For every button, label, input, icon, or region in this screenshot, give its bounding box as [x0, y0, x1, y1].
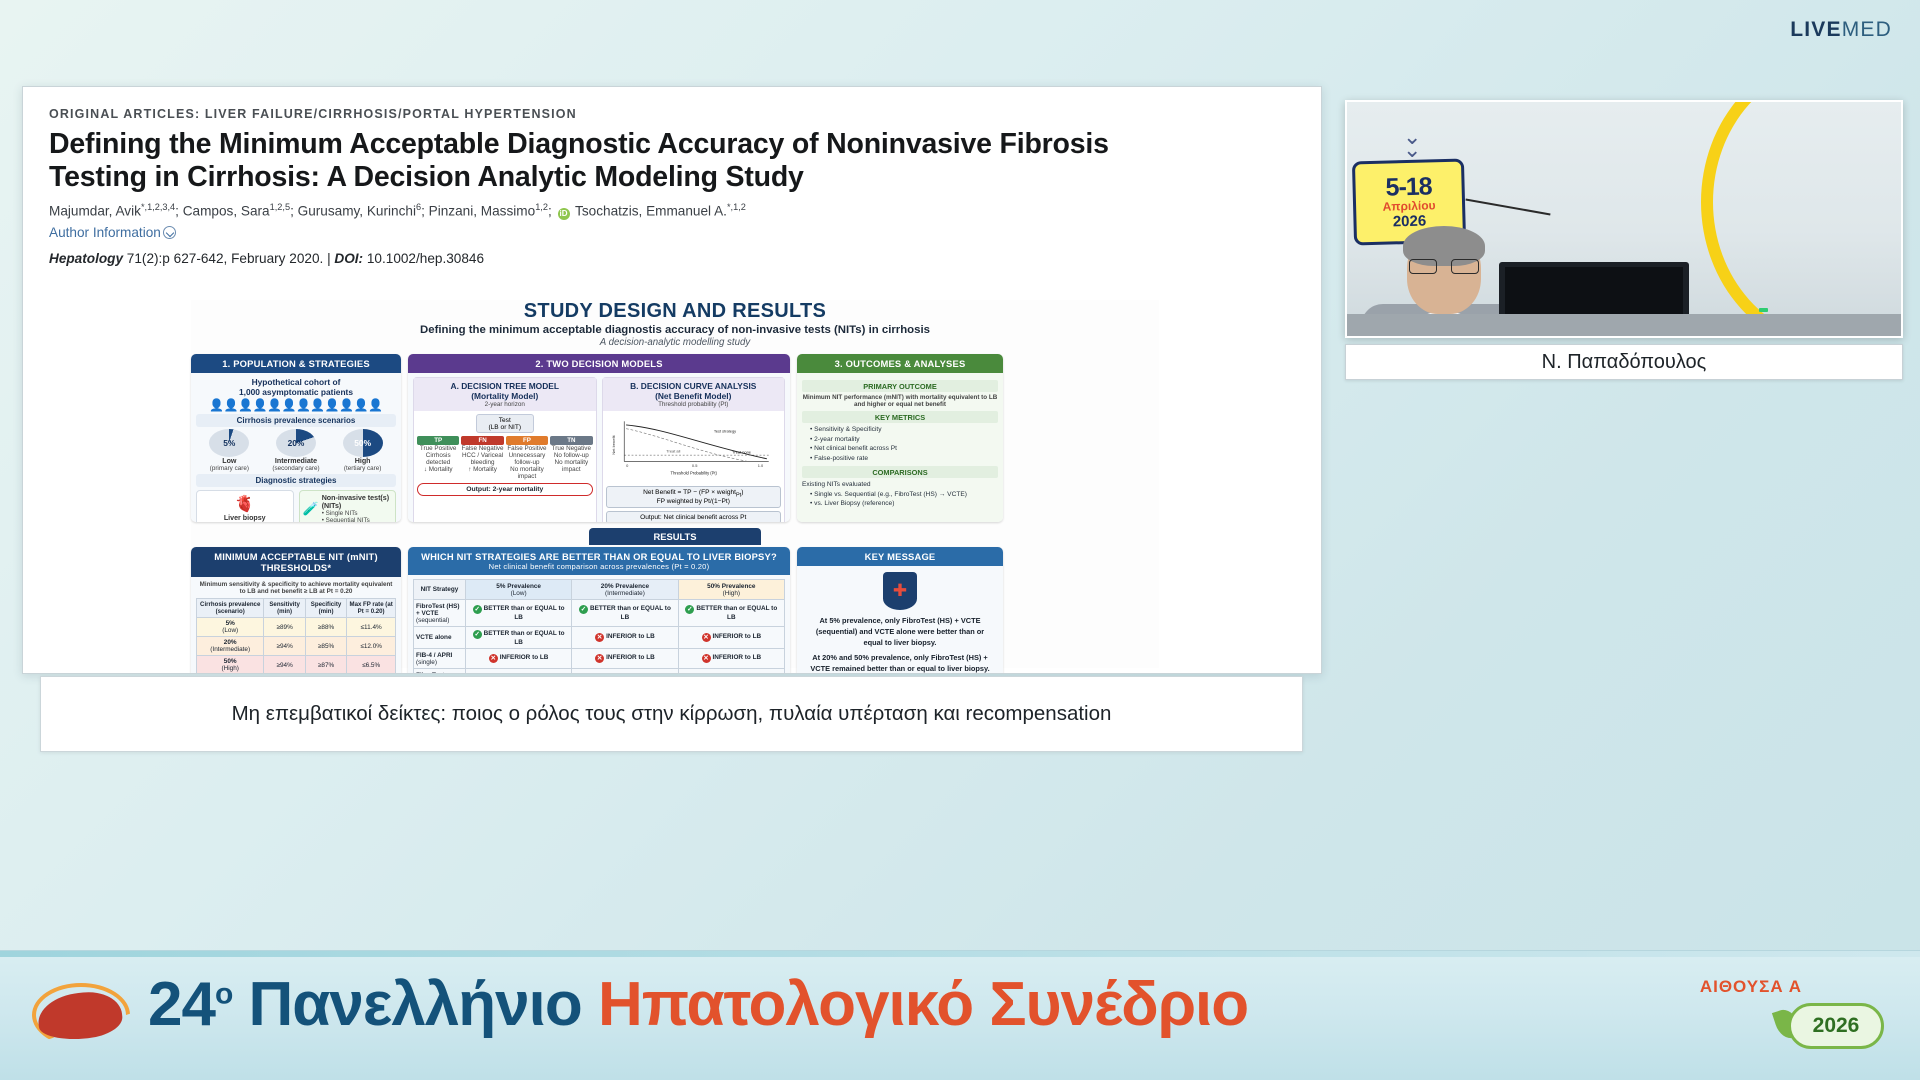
thresholds-table: Cirrhosis prevalence (scenario) Sensitiv…	[196, 598, 396, 674]
strategy-nit-bullet-2: • Sequential NITs	[322, 517, 389, 522]
cohort-line-1: Hypothetical cohort of	[196, 377, 396, 387]
event-ordinal: 24	[148, 970, 215, 1039]
panel-outcomes-analyses: 3. OUTCOMES & ANALYSES PRIMARY OUTCOME M…	[797, 354, 1003, 522]
check-icon: ✓	[473, 630, 482, 639]
cell-sensitivity: ≥89%	[264, 618, 305, 637]
session-caption: Μη επεμβατικοί δείκτες: ποιος ο ρόλος το…	[40, 676, 1303, 752]
prevalence-name: Low	[198, 457, 260, 465]
doi-value: 10.1002/hep.30846	[367, 251, 484, 266]
table-header-row: NIT Strategy 5% Prevalence (Low) 20% Pre…	[414, 580, 785, 600]
strategy-nit-line-2: (NITs)	[322, 502, 389, 510]
svg-text:Test strategy: Test strategy	[713, 428, 735, 433]
key-message-paragraph-2: At 20% and 50% prevalence, only FibroTes…	[802, 650, 998, 674]
col-specificity: Specificity (min)	[305, 599, 346, 618]
cell-verdict: ✕INFERIOR to LB	[465, 669, 571, 675]
col-nit-strategy: NIT Strategy	[414, 580, 466, 600]
cell-verdict: ✓BETTER than or EQUAL to LB	[678, 600, 784, 627]
hall-label: ΑΙΘΟΥΣΑ Α	[1700, 977, 1802, 997]
infographic-row-bottom: MINIMUM ACCEPTABLE NIT (mNIT) THRESHOLDS…	[191, 547, 1159, 674]
model-b-formula: Net Benefit = TP − (FP × weightPt) FP we…	[606, 486, 782, 508]
event-ordinal-mark: o	[215, 977, 232, 1010]
tree-outcome-tp: TP True Positive Cirrhosis detected ↓ Mo…	[417, 436, 459, 480]
cell-sensitivity: ≥94%	[264, 637, 305, 656]
cell-strategy: FIB-4 / APRI (single)	[414, 649, 466, 669]
liver-icon: 🫀	[200, 494, 290, 514]
table-header-row: Cirrhosis prevalence (scenario) Sensitiv…	[197, 599, 396, 618]
thresholds-header: MINIMUM ACCEPTABLE NIT (mNIT) THRESHOLDS…	[191, 547, 401, 577]
shield-icon	[883, 572, 917, 610]
pie-chart-5: 5%	[209, 429, 249, 457]
cross-icon: ✕	[702, 654, 711, 663]
panel-decision-models: 2. TWO DECISION MODELS A. DECISION TREE …	[408, 354, 790, 522]
metric-item: • False-positive rate	[810, 454, 998, 464]
model-b-header: B. DECISION CURVE ANALYSIS (Net Benefit …	[603, 378, 785, 411]
pie-label: 20%	[276, 429, 316, 457]
cell-verdict: ✓BETTER than or EQUAL to LB	[465, 600, 571, 627]
check-icon: ✓	[579, 605, 588, 614]
citation-separator: |	[327, 251, 331, 266]
infographic-title: STUDY DESIGN AND RESULTS	[191, 300, 1159, 323]
pie-label: 50%	[343, 429, 383, 457]
cell-sensitivity: ≥94%	[264, 656, 305, 675]
article-kicker: ORIGINAL ARTICLES: LIVER FAILURE/CIRRHOS…	[49, 107, 1295, 121]
cell-verdict: ✕INFERIOR to LB	[465, 649, 571, 669]
panel1-header: 1. POPULATION & STRATEGIES	[191, 354, 401, 373]
badge-dates: 5-18	[1385, 175, 1432, 201]
cross-icon: ✕	[595, 654, 604, 663]
primary-outcome-header: PRIMARY OUTCOME	[802, 380, 998, 392]
event-banner: 24o Πανελλήνιο Ηπατολογικό Συνέδριο ΑΙΘΟ…	[0, 950, 1920, 1080]
table-row: FibroTest (HS) + VCTE (sequential) ✓BETT…	[414, 600, 785, 627]
glasses-icon	[1409, 259, 1479, 274]
comparison-header: WHICH NIT STRATEGIES ARE BETTER THAN OR …	[408, 547, 790, 575]
metric-item: • Net clinical benefit across Pt	[810, 444, 998, 454]
year-badge: 2026	[1788, 1003, 1884, 1049]
tree-root-node: Test (LB or NIT)	[476, 414, 534, 433]
model-a-body: Test (LB or NIT) TP True Positive Cirrho…	[414, 411, 596, 522]
cell-verdict: ✕INFERIOR to LB	[572, 669, 678, 675]
table-row: 5% (Low) ≥89% ≥88% ≤11.4%	[197, 618, 396, 637]
prevalence-setting: (tertiary care)	[332, 465, 394, 472]
strategy-boxes: 🫀 Liver biopsy (LB) 🧪 Non-invasive test(…	[196, 490, 396, 522]
prevalence-pies: 5% Low (primary care) 20% Intermediate	[196, 429, 396, 472]
table-row: VCTE alone ✓BETTER than or EQUAL to LB ✕…	[414, 627, 785, 649]
strategy-nits: 🧪 Non-invasive test(s) (NITs) • Single N…	[299, 490, 397, 522]
panel2-header: 2. TWO DECISION MODELS	[408, 354, 790, 373]
check-icon: ✓	[473, 605, 482, 614]
speaker-name: Ν. Παπαδόπουλος	[1542, 351, 1707, 374]
strategy-nit-line-1: Non-invasive test(s)	[322, 494, 389, 502]
key-metrics-header: KEY METRICS	[802, 411, 998, 423]
cell-verdict: ✕INFERIOR to LB	[572, 627, 678, 649]
pie-label: 5%	[209, 429, 249, 457]
event-title: 24o Πανελλήνιο Ηπατολογικό Συνέδριο	[148, 969, 1248, 1040]
metric-item: • Sensitivity & Specificity	[810, 425, 998, 435]
prevalence-setting: (primary care)	[198, 465, 260, 472]
comparisons-list: Existing NITs evaluated • Single vs. Seq…	[802, 480, 998, 509]
model-b-body: Net benefit Test strategy Treat all	[603, 411, 785, 522]
results-band: RESULTS	[589, 528, 761, 545]
strategy-nit-bullet-1: • Single NITs	[322, 510, 389, 517]
key-metrics-list: • Sensitivity & Specificity • 2-year mor…	[802, 425, 998, 463]
event-title-blue: Πανελλήνιο	[249, 970, 582, 1039]
cell-maxfp: ≤6.5%	[347, 656, 396, 675]
prevalence-name: High	[332, 457, 394, 465]
key-message-paragraph-1: At 5% prevalence, only FibroTest (HS) + …	[802, 613, 998, 650]
table-row: 20% (Intermediate) ≥94% ≥85% ≤12.0%	[197, 637, 396, 656]
col-scenario: Cirrhosis prevalence (scenario)	[197, 599, 264, 618]
cross-icon: ✕	[702, 633, 711, 642]
people-icons: 👤👤👤👤👤👤👤👤👤👤👤👤	[196, 399, 396, 411]
liver-logo-icon	[34, 981, 132, 1049]
infographic-subtitle-2: A decision-analytic modelling study	[191, 337, 1159, 348]
infographic-row-top: 1. POPULATION & STRATEGIES Hypothetical …	[191, 354, 1159, 522]
model-b-output: Output: Net clinical benefit across Pt	[606, 511, 782, 522]
article-authors: Majumdar, Avik*,1,2,3,4; Campos, Sara1,2…	[49, 201, 1295, 221]
author-information-label: Author Information	[49, 225, 161, 240]
model-a-output: Output: 2-year mortality	[417, 483, 593, 496]
slide-content: ORIGINAL ARTICLES: LIVER FAILURE/CIRRHOS…	[23, 87, 1321, 673]
cell-maxfp: ≤11.4%	[347, 618, 396, 637]
comparisons-intro: Existing NITs evaluated	[802, 480, 998, 490]
cell-strategy: FibroTest (HS) + VCTE (sequential)	[414, 600, 466, 627]
panel-key-message: KEY MESSAGE At 5% prevalence, only Fibro…	[797, 547, 1003, 674]
citation-detail: 71(2):p 627-642, February 2020.	[127, 251, 323, 266]
status-led-icon	[1759, 308, 1768, 312]
svg-text:Net benefit: Net benefit	[611, 434, 616, 454]
cell-verdict: ✕INFERIOR to LB	[572, 649, 678, 669]
comparison-item: • Single vs. Sequential (e.g., FibroTest…	[810, 490, 998, 500]
citation-journal: Hepatology	[49, 251, 123, 266]
cell-strategy: FibroTest alone (any cut-off)	[414, 669, 466, 675]
svg-text:Treat none: Treat none	[732, 449, 751, 454]
cell-specificity: ≥85%	[305, 637, 346, 656]
check-icon: ✓	[685, 605, 694, 614]
comparison-item: • vs. Liver Biopsy (reference)	[810, 499, 998, 509]
cell-verdict: ✕INFERIOR to LB	[678, 627, 784, 649]
svg-text:Treat all: Treat all	[666, 448, 680, 453]
comparisons-header: COMPARISONS	[802, 466, 998, 478]
col-prev-5: 5% Prevalence (Low)	[465, 580, 571, 600]
cell-verdict: ✕INFERIOR to LB	[678, 669, 784, 675]
thresholds-body: Minimum sensitivity & specificity to ach…	[191, 577, 401, 674]
model-b-threshold: Threshold probability (Pt)	[605, 401, 783, 408]
prevalence-band: Cirrhosis prevalence scenarios	[196, 414, 396, 427]
prevalence-item: 5% Low (primary care)	[198, 429, 260, 472]
doi-label: DOI:	[334, 251, 363, 266]
model-a-header: A. DECISION TREE MODEL (Mortality Model)…	[414, 378, 596, 411]
model-a-subtitle: (Mortality Model)	[416, 391, 594, 401]
table-row: FIB-4 / APRI (single) ✕INFERIOR to LB ✕I…	[414, 649, 785, 669]
col-maxfp: Max FP rate (at Pt = 0.20)	[347, 599, 396, 618]
decision-tree: Test (LB or NIT) TP True Positive Cirrho…	[417, 414, 593, 496]
table-row: FibroTest alone (any cut-off) ✕INFERIOR …	[414, 669, 785, 675]
infographic-subtitle: Defining the minimum acceptable diagnost…	[191, 324, 1159, 336]
slide-viewer[interactable]: ORIGINAL ARTICLES: LIVER FAILURE/CIRRHOS…	[22, 86, 1322, 674]
comparison-body: NIT Strategy 5% Prevalence (Low) 20% Pre…	[408, 575, 790, 674]
desk	[1347, 314, 1901, 336]
speaker-name-plate: Ν. Παπαδόπουλος	[1345, 344, 1903, 380]
test-tube-icon: 🧪	[303, 501, 319, 517]
tree-outcome-tn: TN True Negative No follow-up No mortali…	[550, 436, 592, 480]
table-row: 50% (High) ≥94% ≥87% ≤6.5%	[197, 656, 396, 675]
pie-chart-50: 50%	[343, 429, 383, 457]
key-message-header: KEY MESSAGE	[797, 547, 1003, 566]
cell-specificity: ≥88%	[305, 618, 346, 637]
caption-text: Μη επεμβατικοί δείκτες: ποιος ο ρόλος το…	[232, 700, 1112, 728]
author-information-toggle[interactable]: Author Information	[49, 225, 176, 240]
prevalence-name: Intermediate	[265, 457, 327, 465]
thresholds-intro: Minimum sensitivity & specificity to ach…	[196, 581, 396, 595]
model-b-decision-curve: B. DECISION CURVE ANALYSIS (Net Benefit …	[602, 377, 786, 522]
tree-outcome-fp: FP False Positive Unnecessary follow-up …	[506, 436, 548, 480]
cell-scenario: 20% (Intermediate)	[197, 637, 264, 656]
panel3-header: 3. OUTCOMES & ANALYSES	[797, 354, 1003, 373]
strategy-liver-biopsy: 🫀 Liver biopsy (LB)	[196, 490, 294, 522]
event-title-red: Ηπατολογικό Συνέδριο	[598, 970, 1248, 1039]
chevrons-down-icon: ⌄⌄	[1403, 130, 1421, 156]
model-b-subtitle: (Net Benefit Model)	[605, 391, 783, 401]
col-sensitivity: Sensitivity (min)	[264, 599, 305, 618]
speaker-video[interactable]: ⌄⌄ 5-18 Απριλίου 2026	[1345, 100, 1903, 338]
cell-verdict: ✓BETTER than or EQUAL to LB	[465, 627, 571, 649]
article-citation: Hepatology 71(2):p 627-642, February 202…	[49, 251, 1295, 266]
metric-item: • 2-year mortality	[810, 435, 998, 445]
panel-population-strategies: 1. POPULATION & STRATEGIES Hypothetical …	[191, 354, 401, 522]
model-a-horizon: 2-year horizon	[416, 401, 594, 408]
cell-scenario: 50% (High)	[197, 656, 264, 675]
panel1-body: Hypothetical cohort of 1,000 asymptomati…	[191, 373, 401, 522]
prevalence-item: 20% Intermediate (secondary care)	[265, 429, 327, 472]
logo-light: MED	[1842, 18, 1892, 41]
panel-mnit-thresholds: MINIMUM ACCEPTABLE NIT (mNIT) THRESHOLDS…	[191, 547, 401, 674]
livemed-logo: LIVEMED	[1790, 18, 1892, 42]
key-message-body: At 5% prevalence, only FibroTest (HS) + …	[797, 566, 1003, 674]
prevalence-setting: (secondary care)	[265, 465, 327, 472]
model-a-decision-tree: A. DECISION TREE MODEL (Mortality Model)…	[413, 377, 597, 522]
tree-outcome-chips: TP True Positive Cirrhosis detected ↓ Mo…	[417, 436, 593, 480]
svg-text:0: 0	[626, 463, 629, 468]
svg-text:0.5: 0.5	[691, 463, 697, 468]
cross-icon: ✕	[489, 654, 498, 663]
chevron-down-icon	[163, 226, 176, 239]
col-prev-50: 50% Prevalence (High)	[678, 580, 784, 600]
panel3-body: PRIMARY OUTCOME Minimum NIT performance …	[797, 373, 1003, 522]
svg-text:1.0: 1.0	[757, 463, 763, 468]
cohort-line-2: 1,000 asymptomatic patients	[196, 387, 396, 397]
badge-year: 2026	[1393, 213, 1427, 229]
pie-chart-20: 20%	[276, 429, 316, 457]
strategies-band: Diagnostic strategies	[196, 474, 396, 487]
top-bar: LIVEMED	[0, 0, 1920, 66]
svg-text:Threshold Probability (Pt): Threshold Probability (Pt)	[670, 470, 717, 475]
primary-outcome-text: Minimum NIT performance (mNIT) with mort…	[802, 394, 998, 408]
cell-verdict: ✓BETTER than or EQUAL to LB	[572, 600, 678, 627]
decision-curve-chart: Net benefit Test strategy Treat all	[606, 414, 782, 478]
decision-models-row: A. DECISION TREE MODEL (Mortality Model)…	[413, 377, 785, 522]
model-a-title: A. DECISION TREE MODEL	[416, 381, 594, 391]
panel-nit-comparison: WHICH NIT STRATEGIES ARE BETTER THAN OR …	[408, 547, 790, 674]
cell-maxfp: ≤12.0%	[347, 637, 396, 656]
comparison-table: NIT Strategy 5% Prevalence (Low) 20% Pre…	[413, 579, 785, 674]
article-title: Defining the Minimum Acceptable Diagnost…	[49, 128, 1109, 195]
model-b-title: B. DECISION CURVE ANALYSIS	[605, 381, 783, 391]
logo-bold: LIVE	[1790, 18, 1841, 41]
cross-icon: ✕	[595, 633, 604, 642]
cell-verdict: ✕INFERIOR to LB	[678, 649, 784, 669]
tree-outcome-fn: FN False Negative HCC / Variceal bleedin…	[461, 436, 503, 480]
infographic: STUDY DESIGN AND RESULTS Defining the mi…	[191, 300, 1159, 668]
prevalence-item: 50% High (tertiary care)	[332, 429, 394, 472]
cell-strategy: VCTE alone	[414, 627, 466, 649]
strategy-lb-line-1: Liver biopsy	[200, 514, 290, 522]
cell-scenario: 5% (Low)	[197, 618, 264, 637]
year-badge-text: 2026	[1813, 1014, 1860, 1038]
banner-strip	[0, 951, 1920, 957]
col-prev-20: 20% Prevalence (Intermediate)	[572, 580, 678, 600]
cell-specificity: ≥87%	[305, 656, 346, 675]
panel2-body: A. DECISION TREE MODEL (Mortality Model)…	[408, 373, 790, 522]
